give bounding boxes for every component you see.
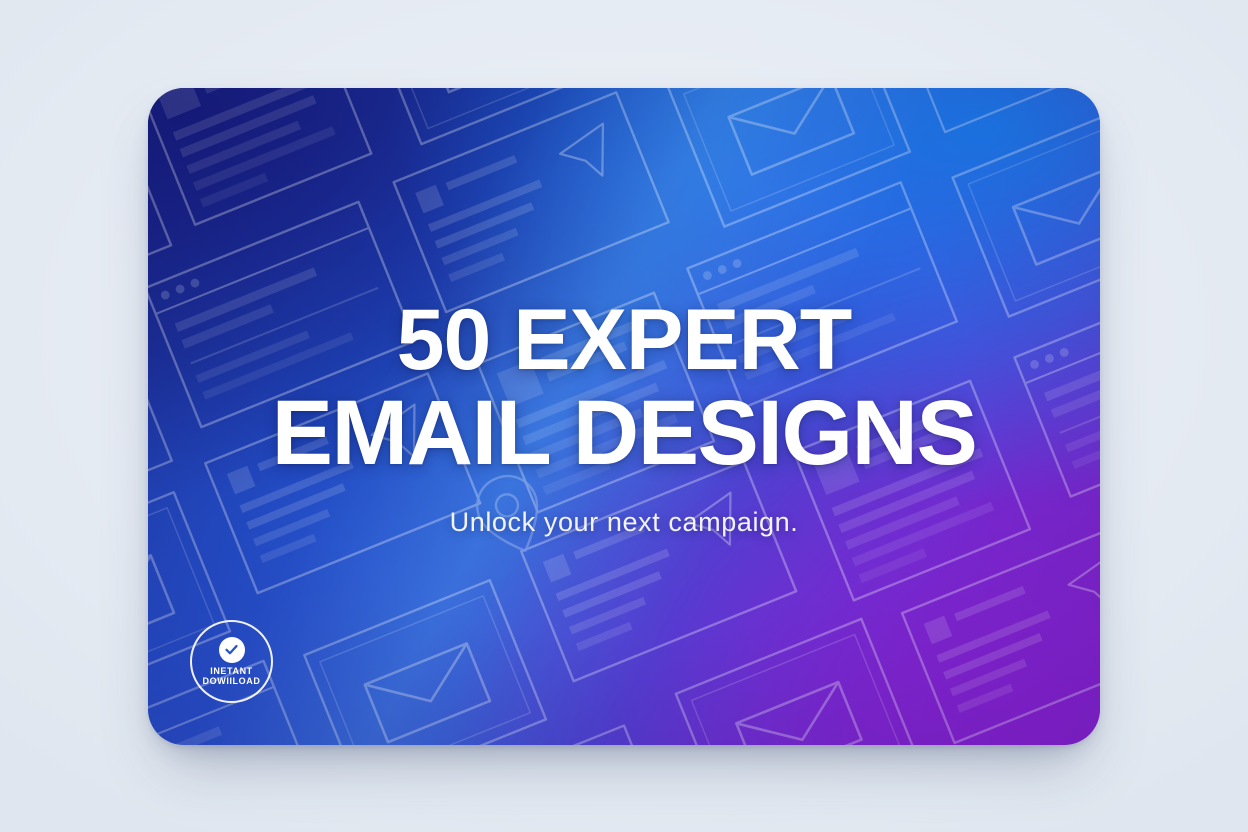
- badge-line-2: DOWIILOAD: [203, 676, 261, 686]
- card-content: 50 EXPERT EMAIL DESIGNS Unlock your next…: [148, 88, 1100, 745]
- promo-card: 50 EXPERT EMAIL DESIGNS Unlock your next…: [148, 88, 1100, 745]
- headline-line-2: EMAIL DESIGNS: [272, 385, 977, 482]
- instant-download-badge: INETANT DOWIILOAD: [190, 620, 273, 703]
- headline-line-1: 50 EXPERT: [272, 295, 977, 385]
- badge-line-1: INETANT: [203, 666, 261, 676]
- badge-text: INETANT DOWIILOAD: [203, 666, 261, 686]
- check-circle-icon: [219, 637, 245, 663]
- page-title: 50 EXPERT EMAIL DESIGNS: [272, 295, 977, 482]
- subtitle: Unlock your next campaign.: [450, 507, 799, 538]
